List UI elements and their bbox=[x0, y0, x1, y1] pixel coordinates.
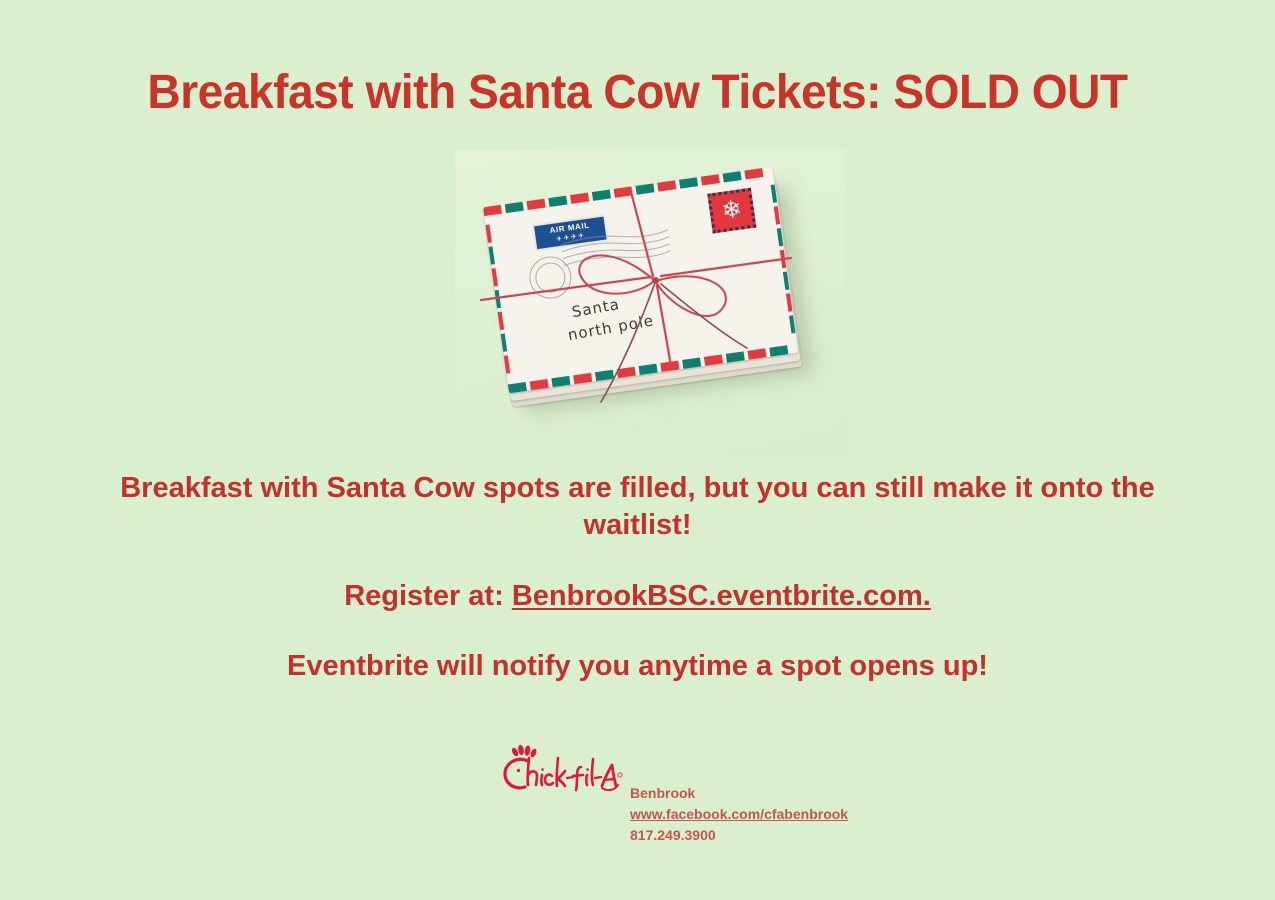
envelope-layer-top: AIR MAIL ✈✈✈✈ ❄ bbox=[483, 167, 798, 394]
photo-inner: AIR MAIL ✈✈✈✈ ❄ bbox=[455, 150, 845, 455]
snowflake-icon: ❄ bbox=[720, 197, 743, 224]
eventbrite-link[interactable]: BenbrookBSC.eventbrite.com. bbox=[512, 580, 931, 612]
facebook-link[interactable]: www.facebook.com/cfabenbrook bbox=[630, 806, 848, 822]
handwritten-address: Santa north pole bbox=[570, 288, 656, 345]
flyer-canvas: Breakfast with Santa Cow Tickets: SOLD O… bbox=[0, 0, 1275, 900]
register-at-label: Register at: bbox=[344, 580, 512, 612]
chick-fil-a-logo bbox=[498, 745, 624, 803]
body-line-2: Register at: BenbrookBSC.eventbrite.com. bbox=[0, 578, 1275, 615]
body-line-3: Eventbrite will notify you anytime a spo… bbox=[0, 648, 1275, 685]
footer-phone: 817.249.3900 bbox=[630, 825, 848, 846]
footer-contact: Benbrook www.facebook.com/cfabenbrook 81… bbox=[630, 783, 848, 846]
santa-letters-photo: AIR MAIL ✈✈✈✈ ❄ bbox=[455, 150, 845, 455]
body-line-1: Breakfast with Santa Cow spots are fille… bbox=[0, 470, 1275, 544]
snowflake-stamp: ❄ bbox=[707, 188, 756, 234]
footer: Benbrook www.facebook.com/cfabenbrook 81… bbox=[498, 745, 848, 846]
page-title: Breakfast with Santa Cow Tickets: SOLD O… bbox=[26, 62, 1250, 124]
footer-location: Benbrook bbox=[630, 783, 848, 804]
envelope-stack: AIR MAIL ✈✈✈✈ ❄ bbox=[483, 167, 799, 400]
